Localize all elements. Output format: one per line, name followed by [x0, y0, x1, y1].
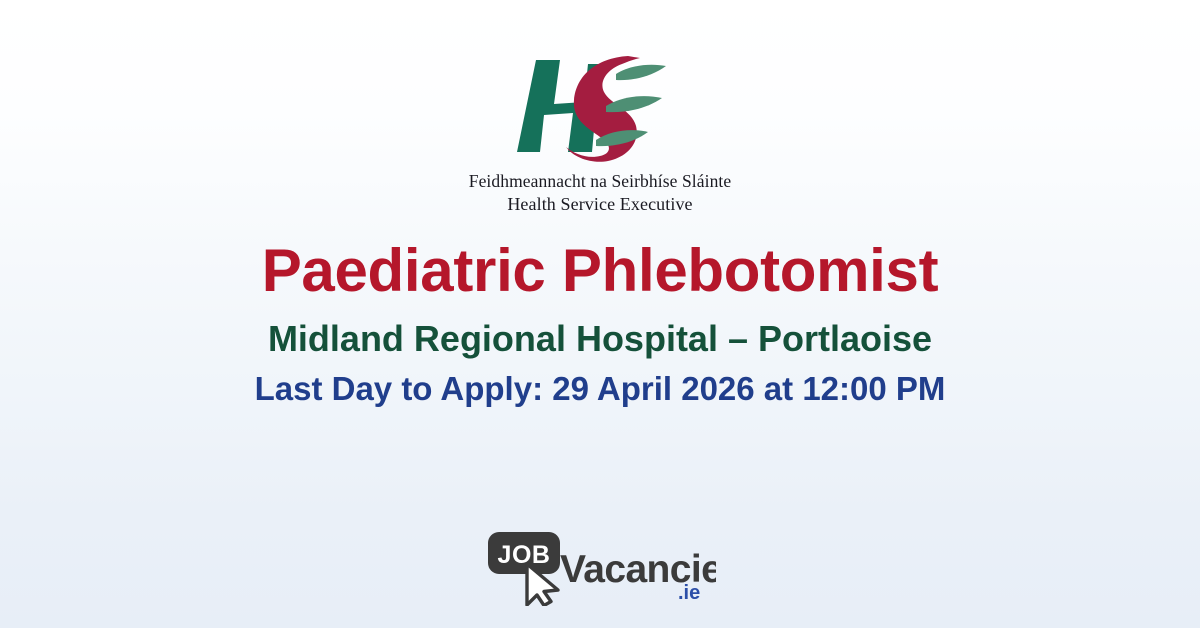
- job-vacancy-poster: Feidhmeannacht na Seirbhíse Sláinte Heal…: [0, 0, 1200, 628]
- hse-logo: Feidhmeannacht na Seirbhíse Sláinte Heal…: [430, 52, 770, 215]
- hospital-location: Midland Regional Hospital – Portlaoise: [0, 319, 1200, 359]
- brand-tld-text: .ie: [678, 582, 700, 604]
- job-title: Paediatric Phlebotomist: [0, 239, 1200, 303]
- application-deadline: Last Day to Apply: 29 April 2026 at 12:0…: [0, 371, 1200, 408]
- jobvacancies-logo-icon: JOB Vacancies .ie: [484, 526, 716, 606]
- hse-monogram-icon: [500, 52, 700, 164]
- jobvacancies-logo: JOB Vacancies .ie: [0, 526, 1200, 606]
- job-badge-text: JOB: [498, 541, 551, 569]
- vacancy-details: Paediatric Phlebotomist Midland Regional…: [0, 239, 1200, 408]
- hse-name-irish: Feidhmeannacht na Seirbhíse Sláinte: [469, 170, 732, 192]
- hse-name-english: Health Service Executive: [507, 193, 692, 215]
